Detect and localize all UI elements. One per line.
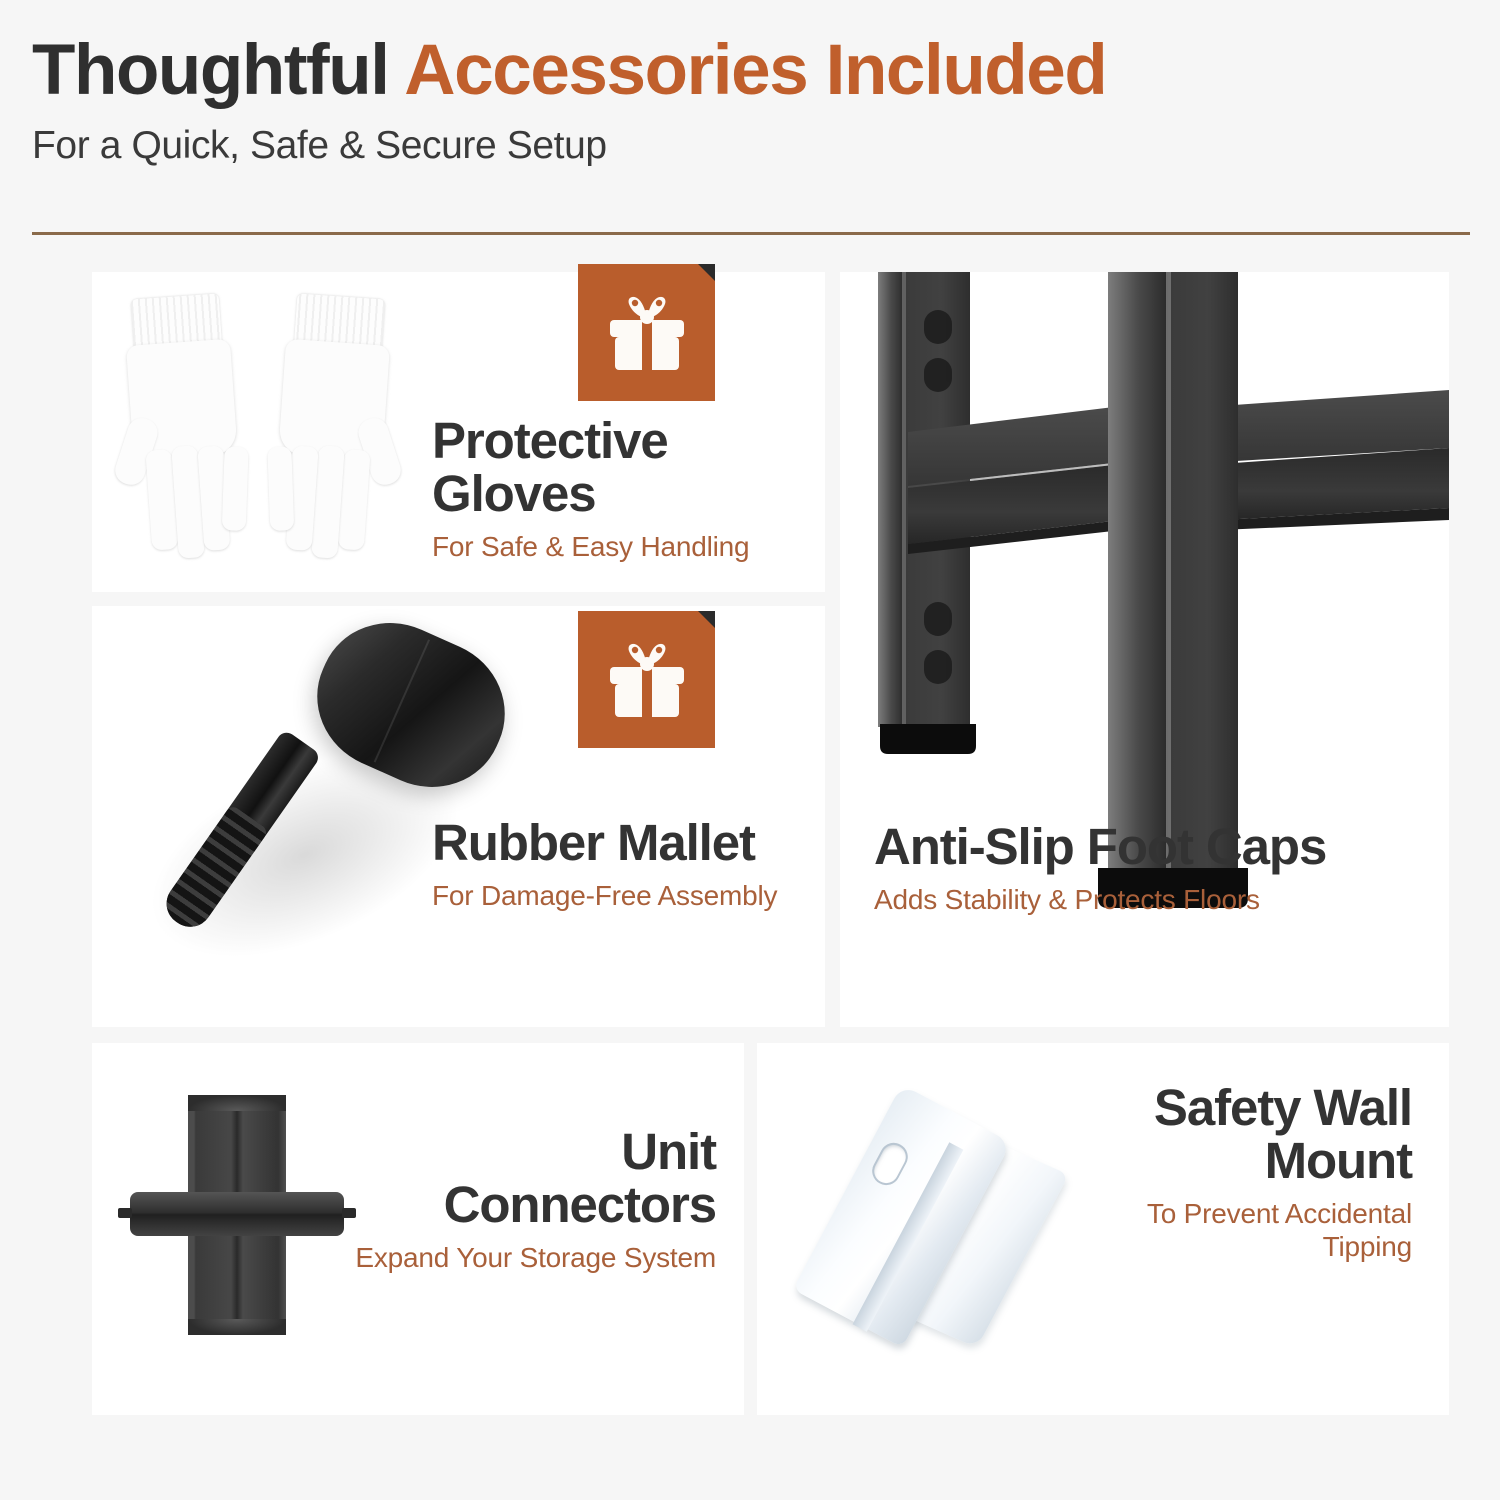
- corner-fold: [698, 611, 715, 628]
- gift-badge: [578, 264, 715, 401]
- feature-text-unit-connectors: Unit Connectors Expand Your Storage Syst…: [338, 1125, 716, 1274]
- black-cross-connector-image: [122, 1095, 352, 1335]
- feature-card-safety-wall-mount: Safety Wall Mount To Prevent Accidental …: [757, 1043, 1449, 1415]
- connector-horizontal-bar: [130, 1192, 344, 1236]
- silver-l-bracket-image: [800, 1090, 1100, 1350]
- glove-left: [109, 292, 261, 569]
- header-divider: [32, 232, 1470, 235]
- feature-tagline: Adds Stability & Protects Floors: [874, 883, 1429, 916]
- feature-text-anti-slip-foot-caps: Anti-Slip Foot Caps Adds Stability & Pro…: [874, 820, 1429, 916]
- feature-name: Rubber Mallet: [432, 816, 807, 869]
- shelf-front-post: [1098, 272, 1248, 908]
- feature-card-unit-connectors: Unit Connectors Expand Your Storage Syst…: [92, 1043, 744, 1415]
- gift-badge: [578, 611, 715, 748]
- feature-card-anti-slip-foot-caps: Anti-Slip Foot Caps Adds Stability & Pro…: [840, 272, 1449, 1027]
- feature-tagline: For Safe & Easy Handling: [432, 530, 812, 563]
- feature-name: Unit Connectors: [338, 1125, 716, 1231]
- shelf-beam-left: [908, 406, 1122, 554]
- glove-right: [255, 292, 407, 569]
- corner-fold: [698, 264, 715, 281]
- foot-cap-back: [880, 724, 976, 754]
- feature-tagline: Expand Your Storage System: [338, 1241, 716, 1274]
- infographic-page: Thoughtful Accessories Included For a Qu…: [0, 0, 1500, 1500]
- feature-name: Protective Gloves: [432, 414, 812, 520]
- feature-tagline: To Prevent Accidental Tipping: [1077, 1197, 1412, 1263]
- feature-name: Anti-Slip Foot Caps: [874, 820, 1429, 873]
- feature-card-rubber-mallet: Rubber Mallet For Damage-Free Assembly: [92, 606, 825, 1027]
- shelf-beam-right: [1220, 390, 1449, 530]
- gift-icon: [604, 294, 690, 372]
- page-title-accent: Accessories Included: [404, 31, 1106, 110]
- gift-icon: [604, 641, 690, 719]
- page-title-plain: Thoughtful: [32, 31, 404, 110]
- feature-text-safety-wall-mount: Safety Wall Mount To Prevent Accidental …: [1077, 1081, 1412, 1263]
- white-knit-gloves-pair-image: [118, 296, 408, 566]
- page-subtitle: For a Quick, Safe & Secure Setup: [32, 124, 1472, 168]
- connector-nub-left: [118, 1208, 132, 1218]
- feature-text-rubber-mallet: Rubber Mallet For Damage-Free Assembly: [432, 816, 807, 912]
- header: Thoughtful Accessories Included For a Qu…: [32, 34, 1472, 168]
- feature-text-protective-gloves: Protective Gloves For Safe & Easy Handli…: [432, 414, 812, 563]
- glove-finger: [267, 446, 294, 531]
- feature-name: Safety Wall Mount: [1077, 1081, 1412, 1187]
- feature-card-protective-gloves: Protective Gloves For Safe & Easy Handli…: [92, 272, 825, 592]
- glove-finger: [222, 446, 249, 531]
- page-title: Thoughtful Accessories Included: [32, 34, 1472, 108]
- feature-tagline: For Damage-Free Assembly: [432, 879, 807, 912]
